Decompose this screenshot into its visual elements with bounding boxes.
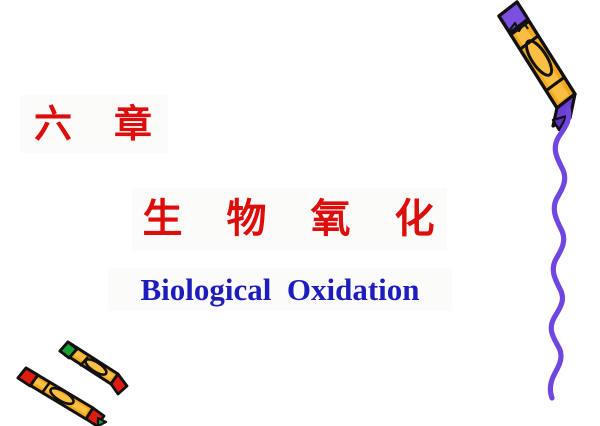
crayon-green (60, 342, 127, 394)
english-title: Biological Oxidation (108, 268, 452, 311)
crayons-bottom-left-illustration (14, 334, 142, 426)
subject-heading: 生 物 氧 化 (132, 188, 447, 250)
slide-canvas: 六 章 生 物 氧 化 Biological Oxidation (0, 0, 600, 426)
purple-squiggle-stroke (524, 108, 600, 408)
chapter-heading: 六 章 (20, 95, 168, 153)
crayon-red (18, 368, 106, 426)
crossed-crayons-icon (14, 334, 142, 426)
wavy-line-icon (524, 108, 600, 408)
